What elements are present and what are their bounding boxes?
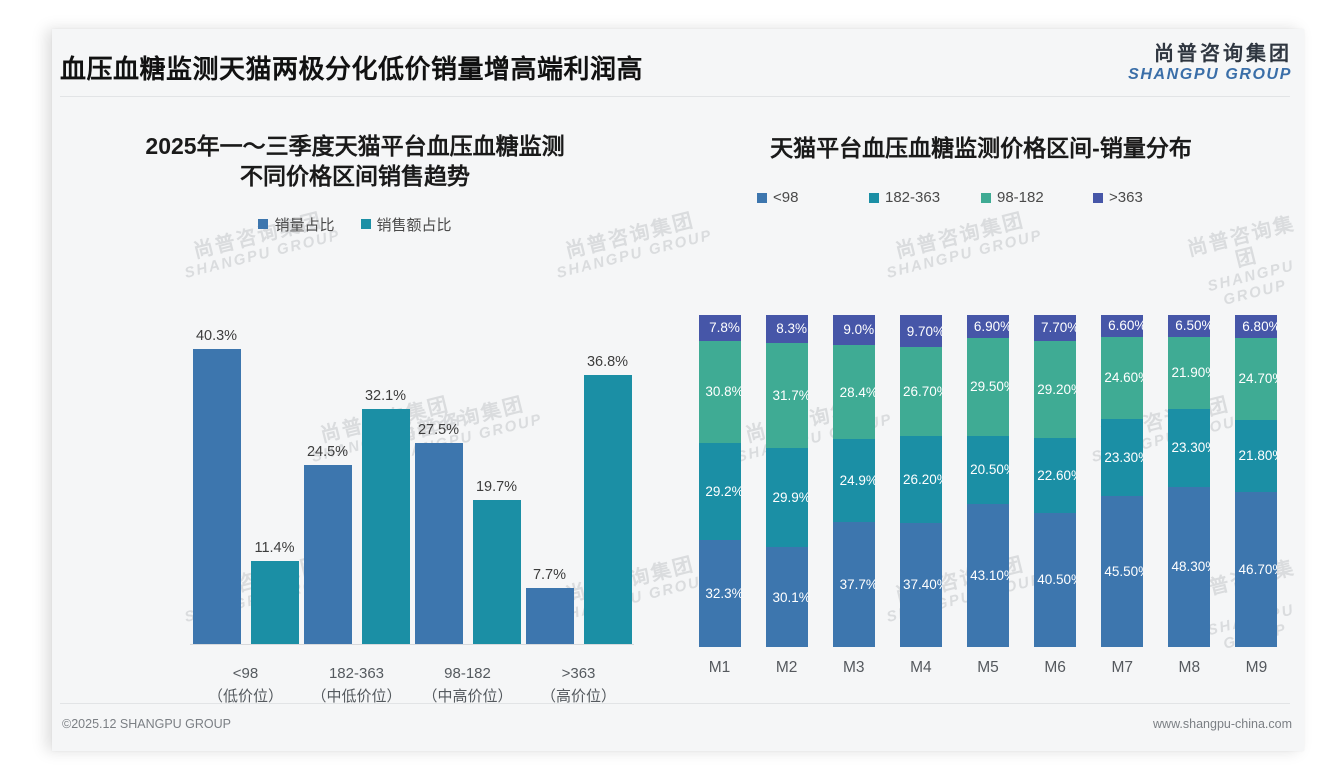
header-divider: [60, 96, 1290, 97]
chart-panel-sales-trend: 2025年一～三季度天猫平台血压血糖监测 不同价格区间销售趋势 销量占比销售额占…: [52, 101, 658, 703]
legend-label: 98-182: [997, 189, 1044, 206]
x-tick-label: M7: [1101, 659, 1143, 677]
stack-segment-label: 40.50%: [1037, 572, 1076, 587]
bar-column[interactable]: 7.7%: [526, 315, 574, 644]
x-tick-label: >363（高价位）: [523, 663, 634, 708]
x-tick-main: 98-182: [444, 665, 491, 682]
chart-title-sales-trend: 2025年一～三季度天猫平台血压血糖监测 不同价格区间销售趋势: [52, 101, 658, 192]
stack-segment[interactable]: 32.3%: [699, 540, 741, 647]
stack-segment-label: 30.8%: [705, 384, 740, 399]
stack-segment-label: 43.10%: [970, 568, 1009, 583]
footer-divider: [60, 703, 1290, 704]
brand-logo-english: SHANGPU GROUP: [1128, 66, 1292, 84]
bar-value-label: 24.5%: [307, 444, 348, 460]
bar-group: 40.3%11.4%: [190, 315, 301, 644]
stack-segment-label: 31.7%: [773, 388, 808, 403]
stack-segment-label: 37.7%: [840, 577, 875, 592]
stack-segment-label: 9.0%: [843, 322, 874, 337]
x-axis-volume-distribution: M1M2M3M4M5M6M7M8M9: [686, 653, 1290, 683]
stack-segment-label: 23.30%: [1171, 440, 1210, 455]
legend-item-0[interactable]: 销量占比: [258, 214, 334, 235]
stack-segment-label: 23.30%: [1104, 450, 1143, 465]
chart-title-line-2: 不同价格区间销售趋势: [52, 161, 658, 191]
stack-segment[interactable]: 31.7%: [766, 343, 808, 448]
chart-title-volume-distribution: 天猫平台血压血糖监测价格区间-销量分布: [658, 101, 1304, 163]
stack-segment-label: 22.60%: [1037, 468, 1076, 483]
stack-segment-label: 29.2%: [705, 484, 740, 499]
stack-segment[interactable]: 9.70%: [900, 315, 942, 347]
bar-value-label: 7.7%: [533, 567, 566, 583]
stack-segment[interactable]: 6.60%: [1101, 315, 1143, 337]
x-tick-main: >363: [562, 665, 596, 682]
bar-value-label: 40.3%: [196, 328, 237, 344]
legend-volume-distribution: <98182-36398-182>363: [658, 189, 1304, 206]
stack-segment-label: 24.60%: [1104, 370, 1143, 385]
plot-area-volume-distribution: 7.8%30.8%29.2%32.3%8.3%31.7%29.9%30.1%9.…: [658, 297, 1304, 703]
stack-segment[interactable]: 9.0%: [833, 315, 875, 345]
stack-segment-label: 29.50%: [970, 379, 1009, 394]
bar-volume[interactable]: [304, 465, 352, 644]
stack-segment-label: 7.8%: [709, 320, 740, 335]
stack-segment-label: 6.60%: [1108, 318, 1143, 333]
x-tick-label: M5: [967, 659, 1009, 677]
bar-group: 7.7%36.8%: [523, 315, 634, 644]
x-tick-main: <98: [233, 665, 258, 682]
bar-revenue[interactable]: [251, 561, 299, 644]
stacked-bar-column[interactable]: 9.0%28.4%24.9%37.7%: [833, 315, 875, 647]
legend-swatch-icon: [757, 193, 767, 203]
stack-segment[interactable]: 48.30%: [1168, 487, 1210, 647]
bar-column[interactable]: 24.5%: [304, 315, 352, 644]
stacked-bar-column[interactable]: 6.80%24.70%21.80%46.70%: [1235, 315, 1277, 647]
stack-segment[interactable]: 46.70%: [1235, 492, 1277, 647]
stack-segment[interactable]: 43.10%: [967, 504, 1009, 647]
plot-area-sales-trend: 40.3%11.4%24.5%32.1%27.5%19.7%7.7%36.8% …: [82, 291, 644, 703]
bar-column[interactable]: 27.5%: [415, 315, 463, 644]
stack-segment[interactable]: 45.50%: [1101, 496, 1143, 647]
bar-value-label: 36.8%: [587, 354, 628, 370]
stacked-bar-column[interactable]: 6.90%29.50%20.50%43.10%: [967, 315, 1009, 647]
bar-column[interactable]: 36.8%: [584, 315, 632, 644]
legend-item-3[interactable]: >363: [1093, 189, 1205, 206]
stack-segment-label: 8.3%: [776, 321, 807, 336]
stack-segment[interactable]: 23.30%: [1168, 409, 1210, 486]
chart-panel-volume-distribution: 天猫平台血压血糖监测价格区间-销量分布 <98182-36398-182>363…: [658, 101, 1304, 703]
slide-header: 血压血糖监测天猫两极分化低价销量增高端利润高 尚普咨询集团 SHANGPU GR…: [52, 29, 1304, 101]
stack-segment-label: 30.1%: [773, 590, 808, 605]
stacked-bar-plot: 7.8%30.8%29.2%32.3%8.3%31.7%29.9%30.1%9.…: [686, 315, 1290, 647]
slide-canvas: 尚普咨询集团SHANGPU GROUP尚普咨询集团SHANGPU GROUP尚普…: [0, 0, 1340, 780]
footer-copyright: ©2025.12 SHANGPU GROUP: [62, 717, 231, 731]
bar-group: 27.5%19.7%: [412, 315, 523, 644]
legend-item-0[interactable]: <98: [757, 189, 869, 206]
stack-segment-label: 6.80%: [1242, 319, 1277, 334]
stack-segment[interactable]: 24.60%: [1101, 337, 1143, 419]
stack-segment[interactable]: 20.50%: [967, 436, 1009, 504]
legend-label: <98: [773, 189, 798, 206]
stack-segment-label: 24.9%: [840, 473, 875, 488]
stack-segment-label: 48.30%: [1171, 559, 1210, 574]
stack-segment[interactable]: 7.8%: [699, 315, 741, 341]
bar-revenue[interactable]: [362, 409, 410, 644]
stacked-bar-column[interactable]: 7.70%29.20%22.60%40.50%: [1034, 315, 1076, 647]
bar-volume[interactable]: [526, 588, 574, 644]
bar-volume[interactable]: [415, 443, 463, 644]
legend-swatch-icon: [1093, 193, 1103, 203]
stack-segment[interactable]: 30.8%: [699, 341, 741, 443]
stack-segment[interactable]: 21.80%: [1235, 420, 1277, 492]
bar-value-label: 19.7%: [476, 479, 517, 495]
stack-segment[interactable]: 26.20%: [900, 436, 942, 523]
stack-segment[interactable]: 37.40%: [900, 523, 942, 647]
legend-swatch-icon: [361, 219, 371, 229]
stacked-bar-column[interactable]: 9.70%26.70%26.20%37.40%: [900, 315, 942, 647]
stack-segment[interactable]: 28.4%: [833, 345, 875, 439]
x-tick-label: 98-182（中高价位）: [412, 663, 523, 708]
bar-plot-sales-trend: 40.3%11.4%24.5%32.1%27.5%19.7%7.7%36.8%: [190, 315, 634, 645]
bar-revenue[interactable]: [473, 500, 521, 644]
stack-segment[interactable]: 22.60%: [1034, 438, 1076, 513]
x-tick-label: M9: [1235, 659, 1277, 677]
stack-segment[interactable]: 40.50%: [1034, 513, 1076, 647]
stack-segment-label: 7.70%: [1041, 320, 1076, 335]
stack-segment[interactable]: 24.70%: [1235, 338, 1277, 420]
x-tick-label: <98（低价位）: [190, 663, 301, 708]
stack-segment-label: 29.20%: [1037, 382, 1076, 397]
stack-segment-label: 26.20%: [903, 472, 942, 487]
chart-title-line-1: 2025年一～三季度天猫平台血压血糖监测: [52, 131, 658, 161]
slide-footer: ©2025.12 SHANGPU GROUP www.shangpu-china…: [52, 703, 1304, 751]
stack-segment-label: 26.70%: [903, 384, 942, 399]
stack-segment[interactable]: 23.30%: [1101, 419, 1143, 496]
stack-segment-label: 24.70%: [1239, 371, 1278, 386]
x-tick-label: M3: [833, 659, 875, 677]
legend-swatch-icon: [981, 193, 991, 203]
brand-logo-chinese: 尚普咨询集团: [1128, 43, 1292, 66]
brand-logo: 尚普咨询集团 SHANGPU GROUP: [1128, 43, 1292, 84]
stack-segment[interactable]: 6.80%: [1235, 315, 1277, 338]
stack-segment[interactable]: 8.3%: [766, 315, 808, 343]
stack-segment[interactable]: 26.70%: [900, 347, 942, 436]
stack-segment-label: 29.9%: [773, 490, 808, 505]
stack-segment[interactable]: 6.50%: [1168, 315, 1210, 337]
bar-value-label: 32.1%: [365, 388, 406, 404]
bar-volume[interactable]: [193, 349, 241, 644]
stack-segment[interactable]: 29.50%: [967, 338, 1009, 436]
bar-column[interactable]: 19.7%: [473, 315, 521, 644]
bar-revenue[interactable]: [584, 375, 632, 644]
x-tick-label: M6: [1034, 659, 1076, 677]
stack-segment[interactable]: 30.1%: [766, 547, 808, 647]
stacked-bar-column[interactable]: 8.3%31.7%29.9%30.1%: [766, 315, 808, 647]
legend-item-2[interactable]: 98-182: [981, 189, 1093, 206]
footer-website: www.shangpu-china.com: [1153, 717, 1292, 731]
stack-segment-label: 45.50%: [1104, 564, 1143, 579]
bar-column[interactable]: 40.3%: [193, 315, 241, 644]
x-tick-label: 182-363（中低价位）: [301, 663, 412, 708]
legend-item-1[interactable]: 182-363: [869, 189, 981, 206]
stack-segment[interactable]: 21.90%: [1168, 337, 1210, 410]
stack-segment[interactable]: 24.9%: [833, 439, 875, 522]
legend-label: >363: [1109, 189, 1143, 206]
stack-segment[interactable]: 7.70%: [1034, 315, 1076, 341]
stack-segment-label: 21.80%: [1239, 448, 1278, 463]
legend-swatch-icon: [258, 219, 268, 229]
stack-segment-label: 6.50%: [1175, 318, 1210, 333]
stack-segment-label: 9.70%: [907, 324, 942, 339]
legend-sales-trend: 销量占比销售额占比: [52, 214, 658, 235]
x-tick-main: 182-363: [329, 665, 384, 682]
x-tick-label: M4: [900, 659, 942, 677]
stack-segment-label: 21.90%: [1171, 365, 1210, 380]
page-title: 血压血糖监测天猫两极分化低价销量增高端利润高: [60, 49, 643, 86]
bar-group: 24.5%32.1%: [301, 315, 412, 644]
slide-body: 2025年一～三季度天猫平台血压血糖监测 不同价格区间销售趋势 销量占比销售额占…: [52, 101, 1304, 703]
stack-segment[interactable]: 29.9%: [766, 448, 808, 547]
stacked-bar-column[interactable]: 6.50%21.90%23.30%48.30%: [1168, 315, 1210, 647]
legend-swatch-icon: [869, 193, 879, 203]
stack-segment-label: 32.3%: [705, 586, 740, 601]
stack-segment[interactable]: 29.20%: [1034, 341, 1076, 438]
stack-segment-label: 20.50%: [970, 462, 1009, 477]
x-tick-label: M2: [766, 659, 808, 677]
legend-label: 销量占比: [274, 214, 334, 235]
bar-value-label: 27.5%: [418, 422, 459, 438]
stack-segment-label: 46.70%: [1239, 562, 1278, 577]
bar-column[interactable]: 11.4%: [251, 315, 299, 644]
stack-segment-label: 6.90%: [974, 319, 1009, 334]
stack-segment[interactable]: 29.2%: [699, 443, 741, 540]
stacked-bar-column[interactable]: 7.8%30.8%29.2%32.3%: [699, 315, 741, 647]
stack-segment-label: 28.4%: [840, 385, 875, 400]
x-tick-label: M1: [699, 659, 741, 677]
slide: 尚普咨询集团SHANGPU GROUP尚普咨询集团SHANGPU GROUP尚普…: [52, 29, 1304, 751]
legend-label: 销售额占比: [377, 214, 452, 235]
x-tick-label: M8: [1168, 659, 1210, 677]
stacked-bar-column[interactable]: 6.60%24.60%23.30%45.50%: [1101, 315, 1143, 647]
bar-value-label: 11.4%: [254, 540, 294, 556]
bar-column[interactable]: 32.1%: [362, 315, 410, 644]
legend-item-1[interactable]: 销售额占比: [361, 214, 452, 235]
stack-segment-label: 37.40%: [903, 577, 942, 592]
stack-segment[interactable]: 6.90%: [967, 315, 1009, 338]
legend-label: 182-363: [885, 189, 940, 206]
stack-segment[interactable]: 37.7%: [833, 522, 875, 647]
